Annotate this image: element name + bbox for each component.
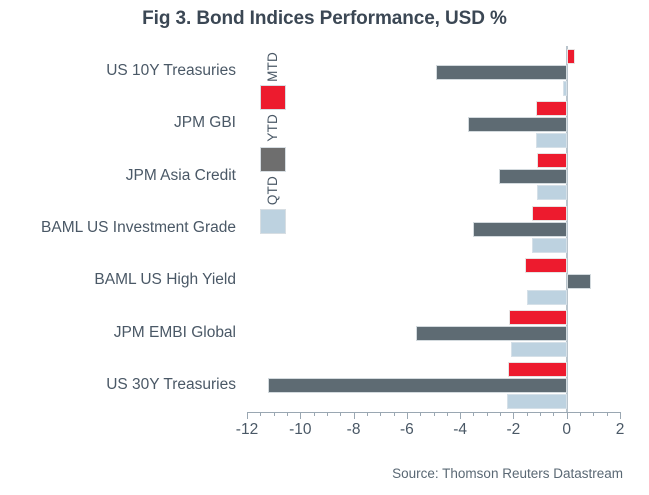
bar-qtd[interactable] — [536, 133, 567, 148]
bar-qtd[interactable] — [537, 185, 566, 200]
x-tick-major — [460, 412, 461, 419]
x-tick-major — [620, 412, 621, 419]
x-tick-minor — [260, 412, 261, 416]
x-tick-minor — [434, 412, 435, 416]
bar-ytd[interactable] — [567, 274, 591, 289]
bar-qtd[interactable] — [563, 81, 567, 96]
x-tick-minor — [287, 412, 288, 416]
legend-label: YTD — [265, 114, 280, 142]
bar-ytd[interactable] — [468, 117, 567, 132]
x-tick-minor — [593, 412, 594, 416]
x-tick-minor — [340, 412, 341, 416]
bar-mtd[interactable] — [536, 101, 567, 116]
bar-qtd[interactable] — [527, 290, 567, 305]
bar-mtd[interactable] — [567, 49, 575, 64]
x-tick-minor — [394, 412, 395, 416]
x-tick-label: -8 — [347, 421, 361, 439]
x-tick-minor — [527, 412, 528, 416]
legend-label: MTD — [265, 52, 280, 82]
category-label: BAML US Investment Grade — [41, 219, 236, 237]
bar-group — [247, 258, 620, 305]
bar-qtd[interactable] — [511, 342, 567, 357]
bar-group — [247, 310, 620, 357]
x-tick-label: -4 — [453, 421, 467, 439]
bar-qtd[interactable] — [532, 238, 567, 253]
bar-ytd[interactable] — [436, 65, 567, 80]
x-tick-minor — [540, 412, 541, 416]
x-tick-minor — [447, 412, 448, 416]
x-tick-minor — [580, 412, 581, 416]
bar-mtd[interactable] — [508, 362, 567, 377]
source-note: Source: Thomson Reuters Datastream — [392, 466, 623, 481]
x-tick-minor — [607, 412, 608, 416]
legend-label: QTD — [265, 176, 280, 205]
legend-swatch — [260, 147, 286, 172]
legend-swatch — [260, 85, 286, 110]
legend-item-qtd[interactable]: QTD — [258, 176, 288, 238]
bar-group — [247, 362, 620, 409]
category-label: JPM EMBI Global — [114, 324, 236, 342]
bar-mtd[interactable] — [532, 206, 567, 221]
bar-mtd[interactable] — [509, 310, 566, 325]
category-label: JPM Asia Credit — [126, 167, 236, 185]
y-axis-category-labels: US 10Y TreasuriesJPM GBIJPM Asia CreditB… — [0, 46, 240, 412]
category-label: US 30Y Treasuries — [106, 376, 236, 394]
bar-mtd[interactable] — [537, 153, 566, 168]
x-tick-minor — [500, 412, 501, 416]
category-label: BAML US High Yield — [94, 271, 236, 289]
x-tick-major — [567, 412, 568, 419]
x-tick-minor — [487, 412, 488, 416]
bar-group — [247, 101, 620, 148]
bar-ytd[interactable] — [499, 169, 567, 184]
x-tick-minor — [314, 412, 315, 416]
bar-qtd[interactable] — [507, 394, 567, 409]
x-tick-minor — [420, 412, 421, 416]
bar-mtd[interactable] — [525, 258, 566, 273]
bar-ytd[interactable] — [268, 378, 566, 393]
x-tick-major — [300, 412, 301, 419]
x-tick-major — [354, 412, 355, 419]
x-tick-minor — [473, 412, 474, 416]
x-tick-label: -10 — [289, 421, 311, 439]
chart-title: Fig 3. Bond Indices Performance, USD % — [0, 8, 649, 30]
category-label: US 10Y Treasuries — [106, 62, 236, 80]
bar-group — [247, 206, 620, 253]
bar-ytd[interactable] — [416, 326, 567, 341]
legend-item-mtd[interactable]: MTD — [258, 52, 288, 114]
x-tick-major — [407, 412, 408, 419]
bond-indices-performance-chart: Fig 3. Bond Indices Performance, USD % U… — [0, 0, 649, 495]
legend-item-ytd[interactable]: YTD — [258, 114, 288, 176]
x-tick-label: -6 — [400, 421, 414, 439]
plot-area — [247, 46, 620, 412]
x-tick-minor — [367, 412, 368, 416]
bar-group — [247, 153, 620, 200]
x-tick-label: -2 — [507, 421, 521, 439]
x-tick-minor — [327, 412, 328, 416]
x-tick-minor — [274, 412, 275, 416]
x-tick-major — [513, 412, 514, 419]
x-tick-minor — [553, 412, 554, 416]
legend-swatch — [260, 209, 286, 234]
x-tick-label: 0 — [562, 421, 571, 439]
x-tick-minor — [380, 412, 381, 416]
x-tick-label: -12 — [236, 421, 258, 439]
x-tick-label: 2 — [616, 421, 625, 439]
bar-group — [247, 49, 620, 96]
x-tick-major — [247, 412, 248, 419]
bar-ytd[interactable] — [473, 222, 566, 237]
category-label: JPM GBI — [174, 114, 236, 132]
